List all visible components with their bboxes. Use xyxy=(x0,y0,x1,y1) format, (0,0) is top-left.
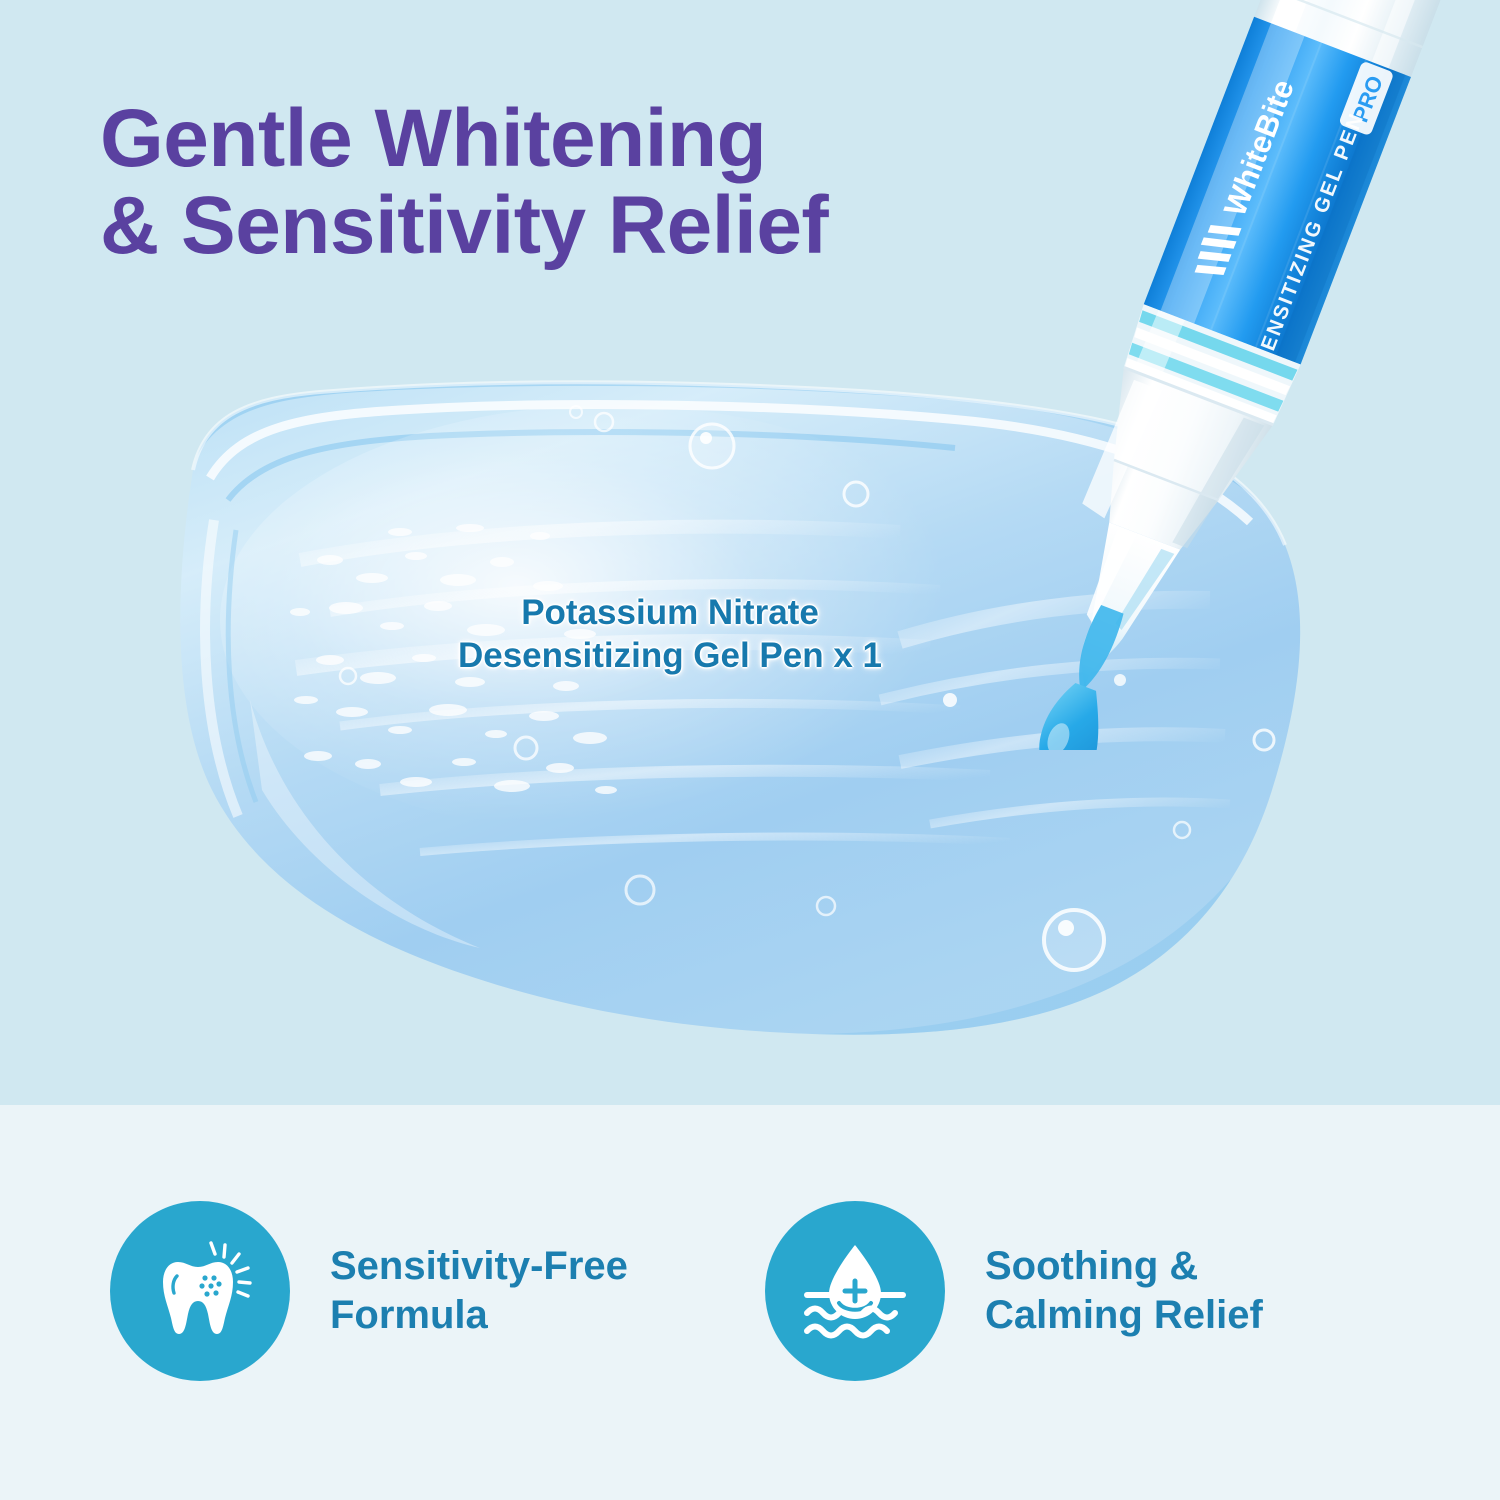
feature-label: Soothing & Calming Relief xyxy=(985,1242,1263,1340)
feature-sensitivity-free: Sensitivity-Free Formula xyxy=(110,1201,628,1381)
gel-pen-product-image: WhiteBite PRO DESENSITIZING GEL PEN xyxy=(940,0,1500,750)
features-section: Sensitivity-Free Formula xyxy=(0,1105,1500,1500)
feature-label: Sensitivity-Free Formula xyxy=(330,1242,628,1340)
feature-icon-circle xyxy=(765,1201,945,1381)
water-drop-plus-icon xyxy=(799,1233,911,1350)
hero-section: Gentle Whitening & Sensitivity Relief Po… xyxy=(0,0,1500,1105)
feature-soothing-relief: Soothing & Calming Relief xyxy=(765,1201,1263,1381)
page-title: Gentle Whitening & Sensitivity Relief xyxy=(100,96,828,270)
feature-icon-circle xyxy=(110,1201,290,1381)
sensitive-tooth-icon xyxy=(145,1234,255,1349)
product-caption: Potassium Nitrate Desensitizing Gel Pen … xyxy=(390,592,950,677)
